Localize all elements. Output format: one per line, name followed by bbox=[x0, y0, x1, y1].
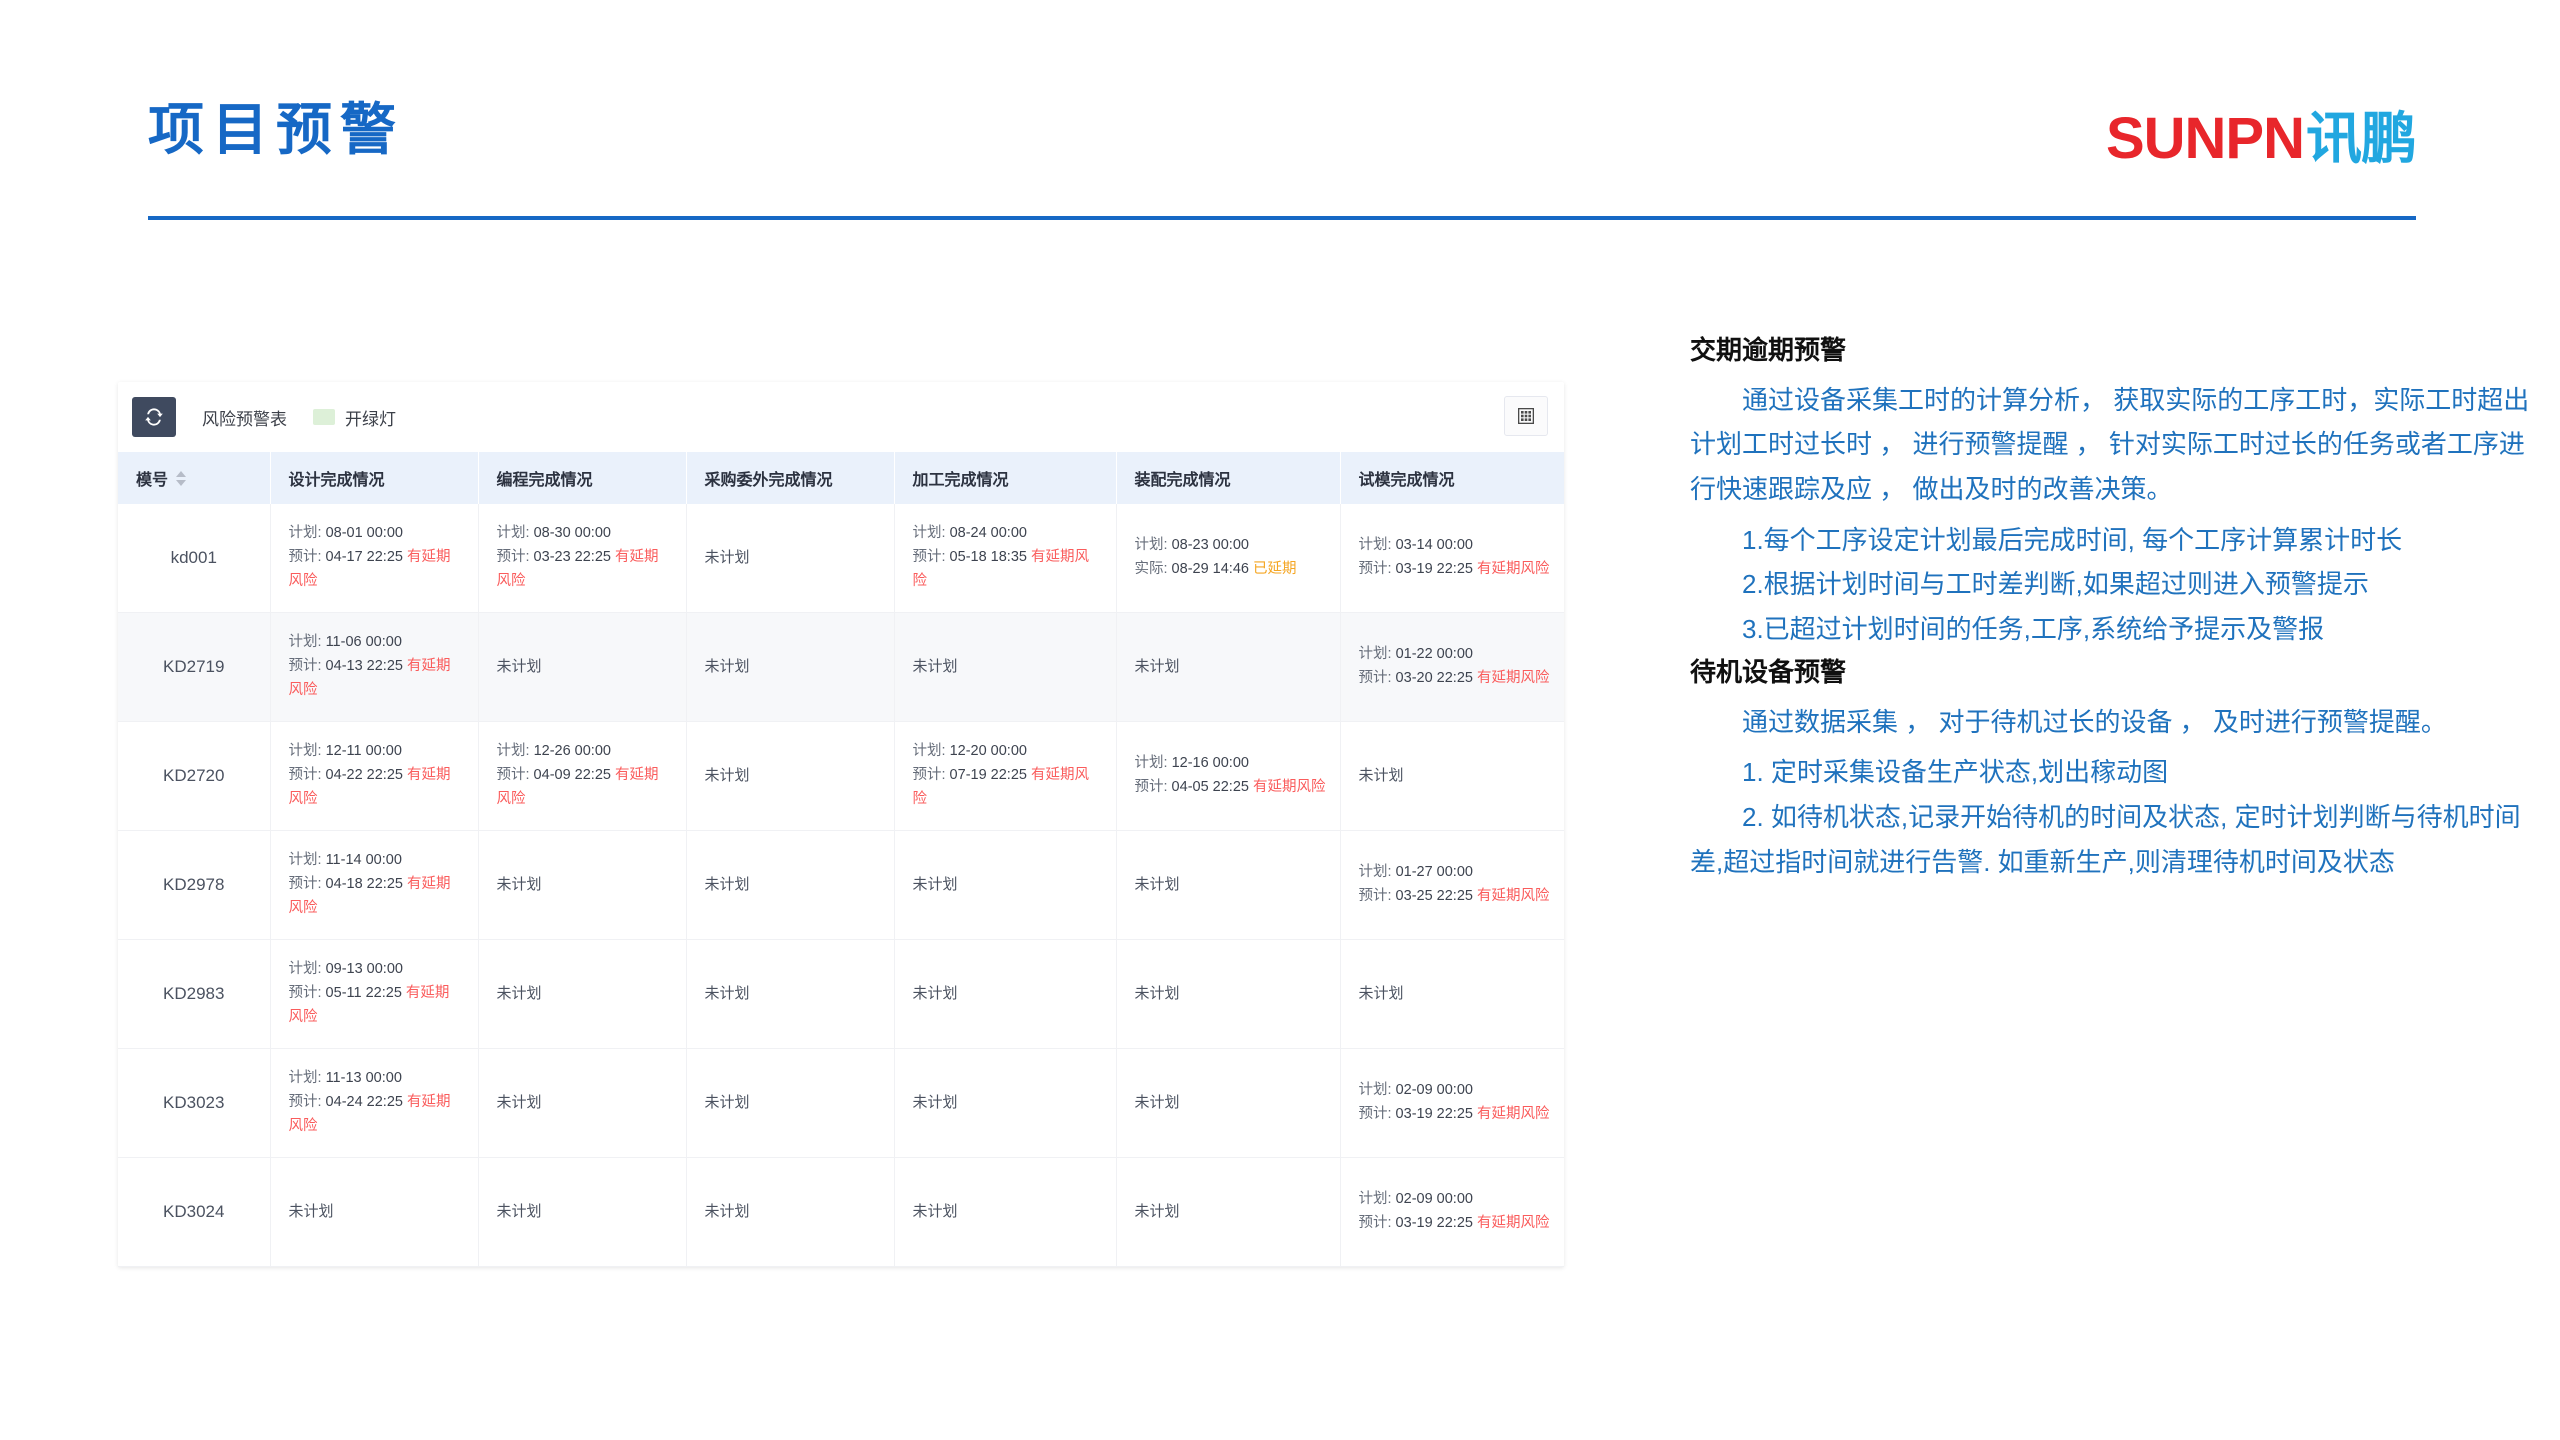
estimate-date-line: 预计: 04-13 22:25 有延期风险 bbox=[289, 655, 464, 703]
unplanned-text: 未计划 bbox=[705, 876, 750, 893]
table-row[interactable]: KD2983计划: 09-13 00:00预计: 05-11 22:25 有延期… bbox=[118, 940, 1564, 1049]
cell-model-number: KD3023 bbox=[118, 1049, 270, 1158]
status-badge: 有延期风险 bbox=[1477, 1215, 1550, 1231]
plan-date-line: 计划: 09-13 00:00 bbox=[289, 958, 464, 982]
refresh-button[interactable] bbox=[132, 397, 176, 437]
legend-label: 开绿灯 bbox=[345, 405, 396, 430]
cell-progress: 未计划 bbox=[1340, 940, 1564, 1049]
table-header-cell: 设计完成情况 bbox=[270, 452, 478, 504]
plan-date-line: 计划: 01-27 00:00 bbox=[1359, 861, 1551, 885]
cell-progress: 计划: 01-22 00:00预计: 03-20 22:25 有延期风险 bbox=[1340, 613, 1564, 722]
brand-logo: SUNPN讯鹏 bbox=[2106, 110, 2416, 168]
estimate-date-line: 预计: 03-20 22:25 有延期风险 bbox=[1359, 667, 1551, 691]
status-badge: 已延期 bbox=[1253, 561, 1297, 577]
cell-progress: 未计划 bbox=[686, 613, 894, 722]
estimate-date-line: 预计: 03-23 22:25 有延期风险 bbox=[497, 546, 672, 594]
plan-date-line: 计划: 08-30 00:00 bbox=[497, 522, 672, 546]
unplanned-text: 未计划 bbox=[705, 1203, 750, 1220]
plan-date-line: 计划: 12-11 00:00 bbox=[289, 740, 464, 764]
unplanned-text: 未计划 bbox=[913, 1203, 958, 1220]
table-header-label: 试模完成情况 bbox=[1359, 466, 1455, 490]
unplanned-text: 未计划 bbox=[1135, 658, 1180, 675]
info-list-item: 1. 定时采集设备生产状态,划出稼动图 bbox=[1690, 750, 2530, 795]
cell-progress: 未计划 bbox=[478, 1158, 686, 1267]
table-header-cell: 采购委外完成情况 bbox=[686, 452, 894, 504]
cell-progress: 未计划 bbox=[686, 504, 894, 613]
cell-model-number: KD2719 bbox=[118, 613, 270, 722]
unplanned-text: 未计划 bbox=[1135, 876, 1180, 893]
plan-date-line: 计划: 11-13 00:00 bbox=[289, 1067, 464, 1091]
unplanned-text: 未计划 bbox=[705, 985, 750, 1002]
table-row[interactable]: KD3023计划: 11-13 00:00预计: 04-24 22:25 有延期… bbox=[118, 1049, 1564, 1158]
toolbar-title: 风险预警表 bbox=[202, 405, 287, 430]
refresh-icon bbox=[144, 407, 164, 427]
cell-progress: 计划: 08-30 00:00预计: 03-23 22:25 有延期风险 bbox=[478, 504, 686, 613]
estimate-date-line: 预计: 04-22 22:25 有延期风险 bbox=[289, 764, 464, 812]
cell-progress: 未计划 bbox=[1116, 613, 1340, 722]
cell-progress: 未计划 bbox=[686, 940, 894, 1049]
table-header-label: 装配完成情况 bbox=[1135, 466, 1231, 490]
cell-progress: 计划: 08-23 00:00实际: 08-29 14:46 已延期 bbox=[1116, 504, 1340, 613]
cell-progress: 计划: 03-14 00:00预计: 03-19 22:25 有延期风险 bbox=[1340, 504, 1564, 613]
cell-progress: 计划: 12-16 00:00预计: 04-05 22:25 有延期风险 bbox=[1116, 722, 1340, 831]
estimate-date-line: 预计: 05-18 18:35 有延期风险 bbox=[913, 546, 1102, 594]
estimate-date-line: 预计: 04-09 22:25 有延期风险 bbox=[497, 764, 672, 812]
cell-progress: 未计划 bbox=[478, 1049, 686, 1158]
cell-model-number: KD2983 bbox=[118, 940, 270, 1049]
grid-icon bbox=[1518, 408, 1534, 424]
cell-progress: 未计划 bbox=[894, 940, 1116, 1049]
plan-date-line: 计划: 12-20 00:00 bbox=[913, 740, 1102, 764]
cell-progress: 未计划 bbox=[686, 831, 894, 940]
estimate-date-line: 实际: 08-29 14:46 已延期 bbox=[1135, 558, 1326, 582]
estimate-date-line: 预计: 04-24 22:25 有延期风险 bbox=[289, 1091, 464, 1139]
table-row[interactable]: KD2720计划: 12-11 00:00预计: 04-22 22:25 有延期… bbox=[118, 722, 1564, 831]
status-badge: 有延期风险 bbox=[1477, 888, 1550, 904]
cell-progress: 未计划 bbox=[1116, 940, 1340, 1049]
plan-date-line: 计划: 03-14 00:00 bbox=[1359, 534, 1551, 558]
table-toolbar: 风险预警表 开绿灯 bbox=[118, 382, 1564, 452]
cell-progress: 计划: 01-27 00:00预计: 03-25 22:25 有延期风险 bbox=[1340, 831, 1564, 940]
unplanned-text: 未计划 bbox=[913, 1094, 958, 1111]
plan-date-line: 计划: 12-26 00:00 bbox=[497, 740, 672, 764]
table-row[interactable]: KD2978计划: 11-14 00:00预计: 04-18 22:25 有延期… bbox=[118, 831, 1564, 940]
plan-date-line: 计划: 02-09 00:00 bbox=[1359, 1188, 1551, 1212]
cell-progress: 未计划 bbox=[686, 1158, 894, 1267]
unplanned-text: 未计划 bbox=[913, 985, 958, 1002]
risk-warning-table-card: 风险预警表 开绿灯 bbox=[118, 382, 1564, 1267]
cell-progress: 未计划 bbox=[894, 831, 1116, 940]
info-list-item: 2. 如待机状态,记录开始待机的时间及状态, 定时计划判断与待机时间差,超过指时… bbox=[1690, 795, 2530, 884]
cell-progress: 未计划 bbox=[1116, 1158, 1340, 1267]
plan-date-line: 计划: 12-16 00:00 bbox=[1135, 752, 1326, 776]
unplanned-text: 未计划 bbox=[497, 1203, 542, 1220]
unplanned-text: 未计划 bbox=[497, 876, 542, 893]
unplanned-text: 未计划 bbox=[1359, 767, 1404, 784]
plan-date-line: 计划: 08-24 00:00 bbox=[913, 522, 1102, 546]
estimate-date-line: 预计: 03-25 22:25 有延期风险 bbox=[1359, 885, 1551, 909]
cell-progress: 计划: 12-20 00:00预计: 07-19 22:25 有延期风险 bbox=[894, 722, 1116, 831]
cell-progress: 未计划 bbox=[686, 1049, 894, 1158]
unplanned-text: 未计划 bbox=[497, 985, 542, 1002]
plan-date-line: 计划: 11-06 00:00 bbox=[289, 631, 464, 655]
unplanned-text: 未计划 bbox=[1135, 985, 1180, 1002]
unplanned-text: 未计划 bbox=[705, 549, 750, 566]
table-header-cell: 试模完成情况 bbox=[1340, 452, 1564, 504]
table-row[interactable]: KD3024未计划未计划未计划未计划未计划计划: 02-09 00:00预计: … bbox=[118, 1158, 1564, 1267]
cell-progress: 计划: 11-14 00:00预计: 04-18 22:25 有延期风险 bbox=[270, 831, 478, 940]
table-header-label: 加工完成情况 bbox=[913, 466, 1009, 490]
table-header-cell[interactable]: 模号 bbox=[118, 452, 270, 504]
unplanned-text: 未计划 bbox=[1359, 985, 1404, 1002]
legend-green-light: 开绿灯 bbox=[313, 405, 396, 430]
info-list-item: 3.已超过计划时间的任务,工序,系统给予提示及警报 bbox=[1690, 607, 2530, 652]
unplanned-text: 未计划 bbox=[1135, 1094, 1180, 1111]
status-badge: 有延期风险 bbox=[1477, 670, 1550, 686]
status-badge: 有延期风险 bbox=[1253, 779, 1326, 795]
estimate-date-line: 预计: 03-19 22:25 有延期风险 bbox=[1359, 1212, 1551, 1236]
info-section-heading: 待机设备预警 bbox=[1690, 652, 2530, 694]
cell-progress: 计划: 09-13 00:00预计: 05-11 22:25 有延期风险 bbox=[270, 940, 478, 1049]
plan-date-line: 计划: 08-01 00:00 bbox=[289, 522, 464, 546]
table-row[interactable]: KD2719计划: 11-06 00:00预计: 04-13 22:25 有延期… bbox=[118, 613, 1564, 722]
unplanned-text: 未计划 bbox=[913, 876, 958, 893]
status-badge: 有延期风险 bbox=[1477, 561, 1550, 577]
info-paragraph: 通过数据采集 ， 对于待机过长的设备 ， 及时进行预警提醒。 bbox=[1690, 700, 2530, 745]
unplanned-text: 未计划 bbox=[497, 1094, 542, 1111]
cell-model-number: KD3024 bbox=[118, 1158, 270, 1267]
estimate-date-line: 预计: 04-18 22:25 有延期风险 bbox=[289, 873, 464, 921]
cell-progress: 计划: 08-01 00:00预计: 04-17 22:25 有延期风险 bbox=[270, 504, 478, 613]
unplanned-text: 未计划 bbox=[705, 767, 750, 784]
table-head: 模号设计完成情况编程完成情况采购委外完成情况加工完成情况装配完成情况试模完成情况 bbox=[118, 452, 1564, 504]
plan-date-line: 计划: 08-23 00:00 bbox=[1135, 534, 1326, 558]
cell-progress: 计划: 12-26 00:00预计: 04-09 22:25 有延期风险 bbox=[478, 722, 686, 831]
table-header-label: 采购委外完成情况 bbox=[705, 466, 833, 490]
brand-logo-latin: SUNPN bbox=[2106, 110, 2304, 168]
table-header-label: 设计完成情况 bbox=[289, 466, 385, 490]
plan-date-line: 计划: 11-14 00:00 bbox=[289, 849, 464, 873]
table-header-cell: 装配完成情况 bbox=[1116, 452, 1340, 504]
table-header-label: 编程完成情况 bbox=[497, 466, 593, 490]
status-badge: 有延期风险 bbox=[1477, 1106, 1550, 1122]
cell-model-number: kd001 bbox=[118, 504, 270, 613]
column-settings-button[interactable] bbox=[1504, 396, 1548, 436]
plan-date-line: 计划: 01-22 00:00 bbox=[1359, 643, 1551, 667]
cell-progress: 未计划 bbox=[1116, 1049, 1340, 1158]
table-header-row: 模号设计完成情况编程完成情况采购委外完成情况加工完成情况装配完成情况试模完成情况 bbox=[118, 452, 1564, 504]
cell-progress: 未计划 bbox=[1116, 831, 1340, 940]
sort-toggle-icon[interactable] bbox=[176, 471, 186, 486]
risk-warning-table: 模号设计完成情况编程完成情况采购委外完成情况加工完成情况装配完成情况试模完成情况… bbox=[118, 452, 1564, 1267]
estimate-date-line: 预计: 04-17 22:25 有延期风险 bbox=[289, 546, 464, 594]
cell-progress: 计划: 12-11 00:00预计: 04-22 22:25 有延期风险 bbox=[270, 722, 478, 831]
info-list-item: 2.根据计划时间与工时差判断,如果超过则进入预警提示 bbox=[1690, 562, 2530, 607]
brand-logo-chinese: 讯鹏 bbox=[2306, 111, 2416, 167]
table-header-cell: 加工完成情况 bbox=[894, 452, 1116, 504]
page-header: 项目预警 SUNPN讯鹏 bbox=[148, 96, 2416, 220]
info-paragraph: 通过设备采集工时的计算分析， 获取实际的工序工时，实际工时超出计划工时过长时 ，… bbox=[1690, 378, 2530, 512]
cell-progress: 计划: 11-13 00:00预计: 04-24 22:25 有延期风险 bbox=[270, 1049, 478, 1158]
info-section-heading: 交期逾期预警 bbox=[1690, 330, 2530, 372]
plan-date-line: 计划: 02-09 00:00 bbox=[1359, 1079, 1551, 1103]
unplanned-text: 未计划 bbox=[705, 1094, 750, 1111]
header-divider bbox=[148, 216, 2416, 220]
estimate-date-line: 预计: 05-11 22:25 有延期风险 bbox=[289, 982, 464, 1030]
estimate-date-line: 预计: 07-19 22:25 有延期风险 bbox=[913, 764, 1102, 812]
estimate-date-line: 预计: 03-19 22:25 有延期风险 bbox=[1359, 1103, 1551, 1127]
info-panel: 交期逾期预警通过设备采集工时的计算分析， 获取实际的工序工时，实际工时超出计划工… bbox=[1690, 330, 2530, 884]
legend-color-swatch bbox=[313, 409, 335, 425]
unplanned-text: 未计划 bbox=[497, 658, 542, 675]
cell-progress: 未计划 bbox=[686, 722, 894, 831]
info-list-item: 1.每个工序设定计划最后完成时间, 每个工序计算累计时长 bbox=[1690, 518, 2530, 563]
cell-progress: 未计划 bbox=[478, 831, 686, 940]
cell-progress: 计划: 02-09 00:00预计: 03-19 22:25 有延期风险 bbox=[1340, 1158, 1564, 1267]
table-header-label: 模号 bbox=[136, 466, 168, 490]
cell-progress: 未计划 bbox=[894, 613, 1116, 722]
cell-progress: 未计划 bbox=[1340, 722, 1564, 831]
table-body: kd001计划: 08-01 00:00预计: 04-17 22:25 有延期风… bbox=[118, 504, 1564, 1267]
unplanned-text: 未计划 bbox=[1135, 1203, 1180, 1220]
table-row[interactable]: kd001计划: 08-01 00:00预计: 04-17 22:25 有延期风… bbox=[118, 504, 1564, 613]
cell-progress: 未计划 bbox=[270, 1158, 478, 1267]
unplanned-text: 未计划 bbox=[705, 658, 750, 675]
cell-progress: 计划: 08-24 00:00预计: 05-18 18:35 有延期风险 bbox=[894, 504, 1116, 613]
cell-progress: 计划: 11-06 00:00预计: 04-13 22:25 有延期风险 bbox=[270, 613, 478, 722]
unplanned-text: 未计划 bbox=[289, 1203, 334, 1220]
cell-progress: 未计划 bbox=[478, 613, 686, 722]
cell-progress: 未计划 bbox=[478, 940, 686, 1049]
cell-progress: 未计划 bbox=[894, 1049, 1116, 1158]
cell-progress: 计划: 02-09 00:00预计: 03-19 22:25 有延期风险 bbox=[1340, 1049, 1564, 1158]
cell-model-number: KD2720 bbox=[118, 722, 270, 831]
estimate-date-line: 预计: 03-19 22:25 有延期风险 bbox=[1359, 558, 1551, 582]
page-title: 项目预警 bbox=[148, 96, 404, 163]
unplanned-text: 未计划 bbox=[913, 658, 958, 675]
estimate-date-line: 预计: 04-05 22:25 有延期风险 bbox=[1135, 776, 1326, 800]
cell-model-number: KD2978 bbox=[118, 831, 270, 940]
table-header-cell: 编程完成情况 bbox=[478, 452, 686, 504]
cell-progress: 未计划 bbox=[894, 1158, 1116, 1267]
